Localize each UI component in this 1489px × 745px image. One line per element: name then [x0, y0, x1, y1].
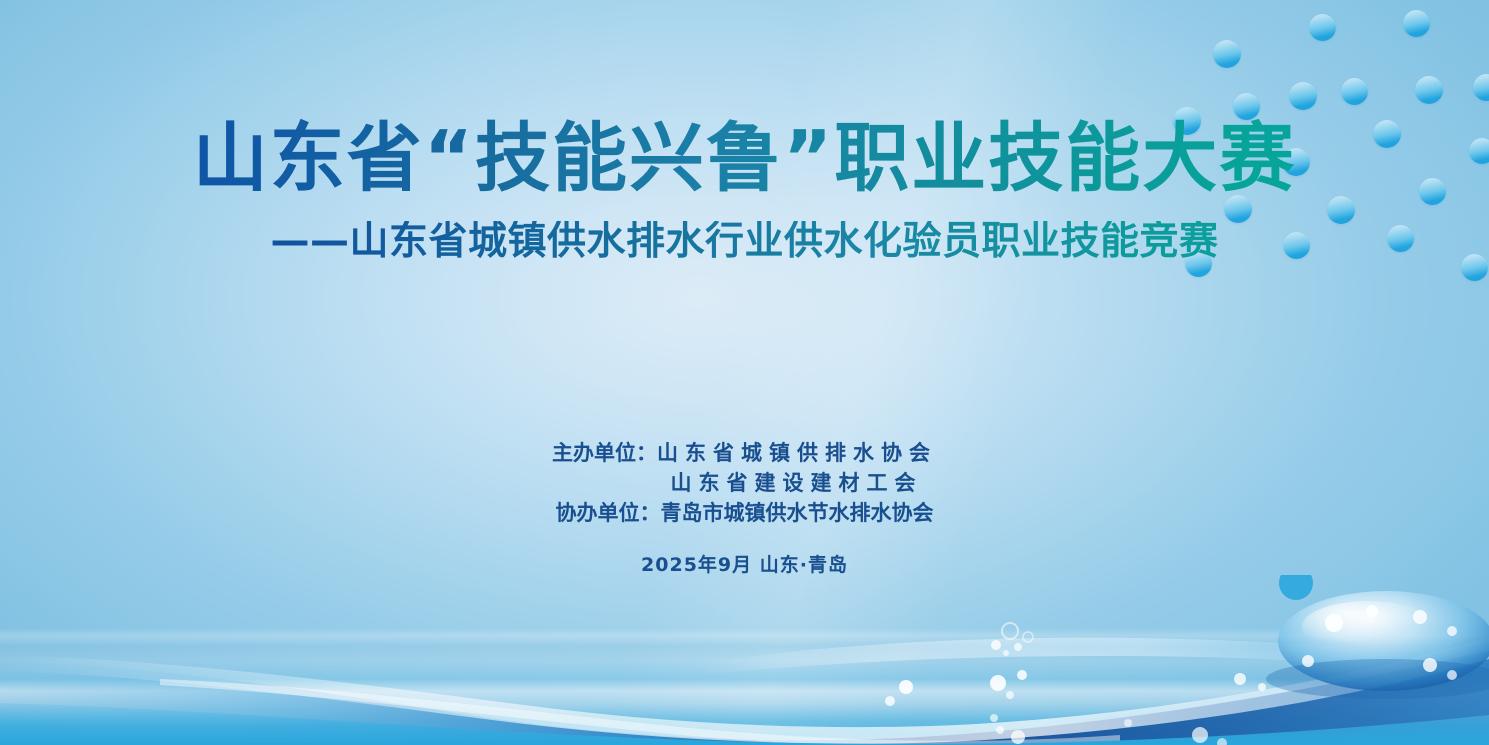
poster-headings: 山东省“技能兴鲁”职业技能大赛 ——山东省城镇供水排水行业供水化验员职业技能竞赛: [0, 118, 1489, 264]
poster-canvas: 山东省“技能兴鲁”职业技能大赛 ——山东省城镇供水排水行业供水化验员职业技能竞赛…: [0, 0, 1489, 745]
large-water-droplet: [1266, 591, 1489, 699]
droplet-dot: [1213, 40, 1241, 68]
water-wave-graphic: [0, 575, 1489, 745]
droplet-dot: [1415, 76, 1443, 104]
co-host-label: 协办单位：: [556, 501, 661, 525]
page-subtitle: ——山东省城镇供水排水行业供水化验员职业技能竞赛: [0, 221, 1489, 264]
host-label: 主办单位：: [552, 441, 657, 465]
credits-block: 主办单位：山东省城镇供排水协会 山东省建设建材工会 协办单位：青岛市城镇供水节水…: [0, 438, 1489, 577]
falling-droplet: [1279, 575, 1313, 600]
host-org-1: 山东省城镇供排水协会: [657, 441, 937, 465]
droplet-dot: [1289, 82, 1317, 110]
droplet-dot: [1309, 14, 1336, 41]
co-host-line: 协办单位：青岛市城镇供水节水排水协会: [0, 498, 1489, 528]
host-line-2: 山东省建设建材工会: [0, 468, 1489, 498]
host-org-2: 山东省建设建材工会: [671, 471, 923, 495]
droplet-dot: [1341, 78, 1368, 105]
page-title: 山东省“技能兴鲁”职业技能大赛: [0, 118, 1489, 199]
co-host-org: 青岛市城镇供水节水排水协会: [661, 501, 934, 525]
date-location-line: 2025年9月 山东·青岛: [0, 550, 1489, 577]
host-line-1: 主办单位：山东省城镇供排水协会: [0, 438, 1489, 468]
droplet-dot: [1473, 74, 1489, 101]
droplet-dot: [1403, 10, 1430, 37]
